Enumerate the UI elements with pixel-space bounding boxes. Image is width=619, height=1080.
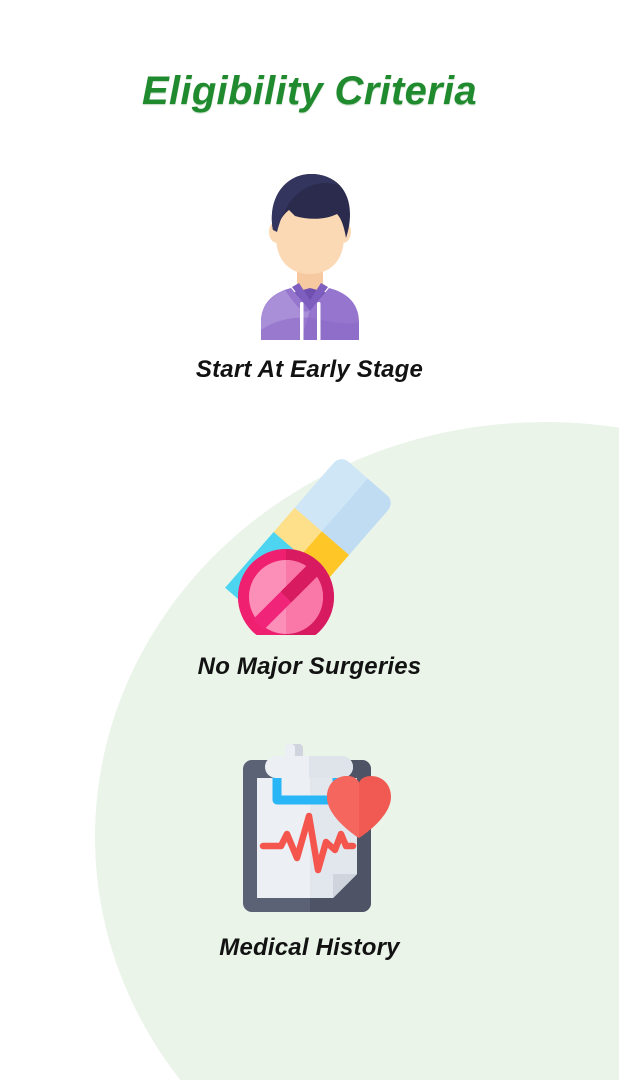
- criteria-label-no-surgeries: No Major Surgeries: [198, 653, 422, 681]
- criteria-item-medical-history[interactable]: Medical History: [0, 738, 619, 962]
- medical-clipboard-heart-icon: [225, 738, 395, 918]
- person-avatar-icon: [251, 170, 369, 340]
- eligibility-criteria-page: Eligibility Criteria: [0, 0, 619, 1080]
- page-title: Eligibility Criteria: [0, 69, 619, 114]
- criteria-label-early-stage: Start At Early Stage: [196, 356, 423, 384]
- criteria-label-medical-history: Medical History: [219, 934, 399, 962]
- criteria-item-early-stage[interactable]: Start At Early Stage: [0, 170, 619, 384]
- criteria-item-no-surgeries[interactable]: No Major Surgeries: [0, 455, 619, 681]
- no-surgery-icon: [222, 455, 398, 635]
